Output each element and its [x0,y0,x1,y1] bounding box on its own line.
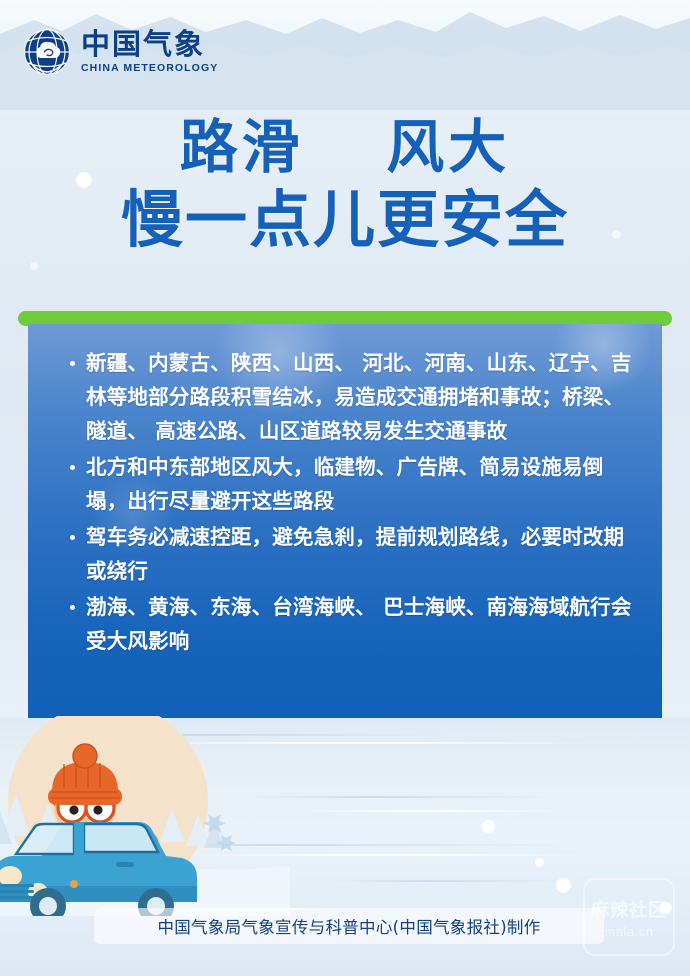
advisory-bullet-list: 新疆、内蒙古、陕西、山西、 河北、河南、山东、辽宁、吉林等地部分路段积雪结冰，易… [28,324,662,658]
snow-dot [482,820,495,833]
headline-word-luhua: 路滑 [180,113,304,181]
snow-dot [556,878,571,893]
watermark-text-en: mala.cn [604,924,653,939]
headline-block: 路滑 风大 慢一点儿更安全 [0,116,690,254]
advisory-bullet-item: 渤海、黄海、东海、台湾海峡、 巴士海峡、南海海域航行会受大风影响 [86,590,644,658]
footer-credit-bar: 中国气象局气象宣传与科普中心(中国气象报社)制作 [94,908,604,944]
advisory-bullet-item: 新疆、内蒙古、陕西、山西、 河北、河南、山东、辽宁、吉林等地部分路段积雪结冰，易… [86,346,644,448]
snow-dot [535,858,544,867]
advisory-panel: 新疆、内蒙古、陕西、山西、 河北、河南、山东、辽宁、吉林等地部分路段积雪结冰，易… [28,324,662,735]
headline-word-fengda: 风大 [386,113,510,181]
cartoon-driver-in-blue-car-icon [0,716,290,916]
headline-line-1: 路滑 风大 [0,116,690,179]
snow-dot [30,262,38,270]
advisory-bullet-item: 北方和中东部地区风大，临建物、广告牌、简易设施易倒塌，出行尽量避开这些路段 [86,450,644,518]
advisory-bullet-item: 驾车务必减速控距，避免急刹，提前规划路线，必要时改期或绕行 [86,520,644,588]
globe-cloud-emblem-icon [22,27,72,77]
brand-logo: 中国气象 CHINA METEOROLOGY [22,27,218,77]
brand-name-cn: 中国气象 [81,30,218,59]
headline-line-2: 慢一点儿更安全 [0,185,690,254]
footer-credit-text: 中国气象局气象宣传与科普中心(中国气象报社)制作 [157,914,540,938]
brand-name-en: CHINA METEOROLOGY [81,63,218,74]
poster-root: 中国气象 CHINA METEOROLOGY 路滑 风大 慢一点儿更安全 新疆、… [0,0,690,976]
